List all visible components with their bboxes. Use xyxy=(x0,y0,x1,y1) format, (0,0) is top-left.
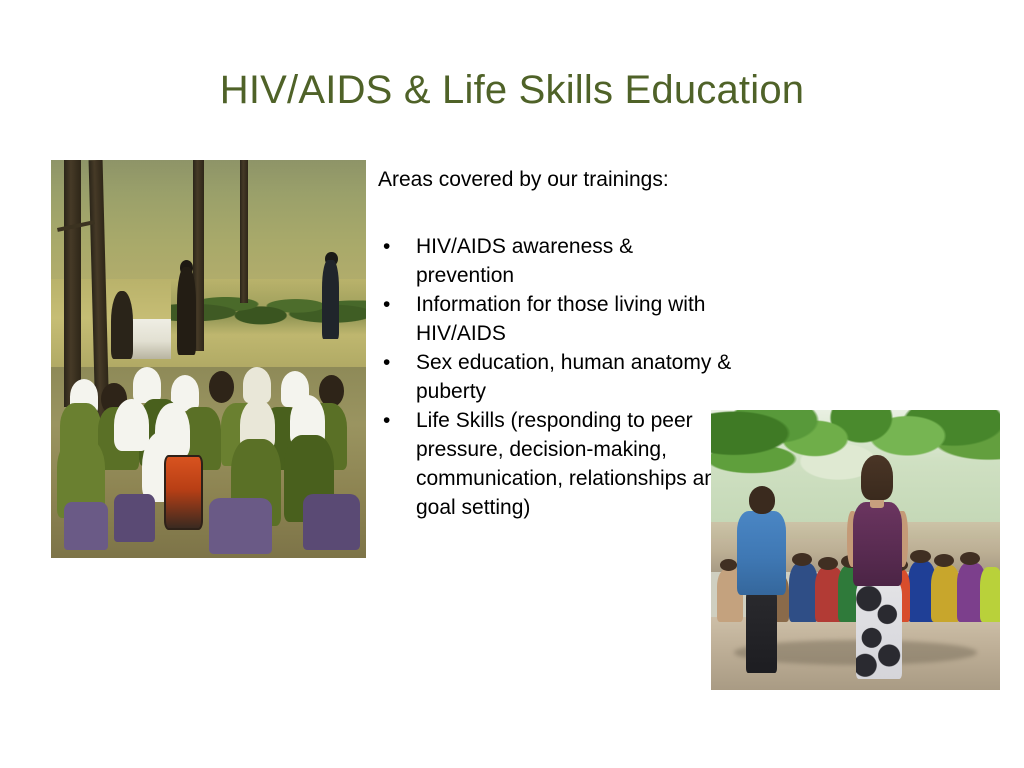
student-skirt xyxy=(64,502,108,550)
list-item: • HIV/AIDS awareness & prevention xyxy=(378,232,734,290)
student-head xyxy=(319,375,344,407)
slide-canvas: HIV/AIDS & Life Skills Education xyxy=(0,0,1024,768)
tree-trunk xyxy=(240,160,248,303)
school-bag xyxy=(164,455,203,531)
seated-adult xyxy=(111,291,133,359)
list-item: • Information for those living with HIV/… xyxy=(378,290,734,348)
list-item-label: HIV/AIDS awareness & prevention xyxy=(416,235,633,287)
bullet-icon: • xyxy=(383,232,397,261)
student-headscarf xyxy=(114,399,149,451)
outdoor-classroom-photo xyxy=(51,160,366,558)
standing-man-head xyxy=(749,486,775,514)
content-body: Areas covered by our trainings: • HIV/AI… xyxy=(378,165,734,522)
standing-man-shirt xyxy=(737,511,786,595)
standing-man-legs xyxy=(746,589,778,673)
list-item-label: Life Skills (responding to peer pressure… xyxy=(416,409,728,519)
bullet-list: • HIV/AIDS awareness & prevention • Info… xyxy=(378,232,734,522)
standing-woman-trousers xyxy=(856,581,902,679)
tree-trunk xyxy=(64,160,81,407)
list-item: • Sex education, human anatomy & puberty xyxy=(378,348,734,406)
bullet-icon: • xyxy=(383,290,397,319)
teacher-figure xyxy=(177,267,196,355)
standing-woman-head xyxy=(861,455,893,500)
list-item: • Life Skills (responding to peer pressu… xyxy=(378,406,734,522)
standing-woman-top xyxy=(853,502,902,586)
bullet-icon: • xyxy=(383,348,397,377)
table xyxy=(127,319,171,359)
list-item-label: Information for those living with HIV/AI… xyxy=(416,293,705,345)
crowd-person xyxy=(980,567,1000,621)
standing-person xyxy=(322,260,339,340)
student-skirt xyxy=(209,498,272,554)
bullet-icon: • xyxy=(383,406,397,435)
student-skirt xyxy=(303,494,360,550)
crowd-person xyxy=(789,563,818,621)
student-skirt xyxy=(114,494,155,542)
intro-line: Areas covered by our trainings: xyxy=(378,165,734,194)
student-headscarf xyxy=(243,367,271,403)
student-headscarf xyxy=(133,367,161,403)
student-head xyxy=(209,371,234,403)
crowd-person xyxy=(931,565,960,621)
community-gathering-photo xyxy=(711,410,1000,690)
page-title: HIV/AIDS & Life Skills Education xyxy=(0,66,1024,114)
list-item-label: Sex education, human anatomy & puberty xyxy=(416,351,731,403)
